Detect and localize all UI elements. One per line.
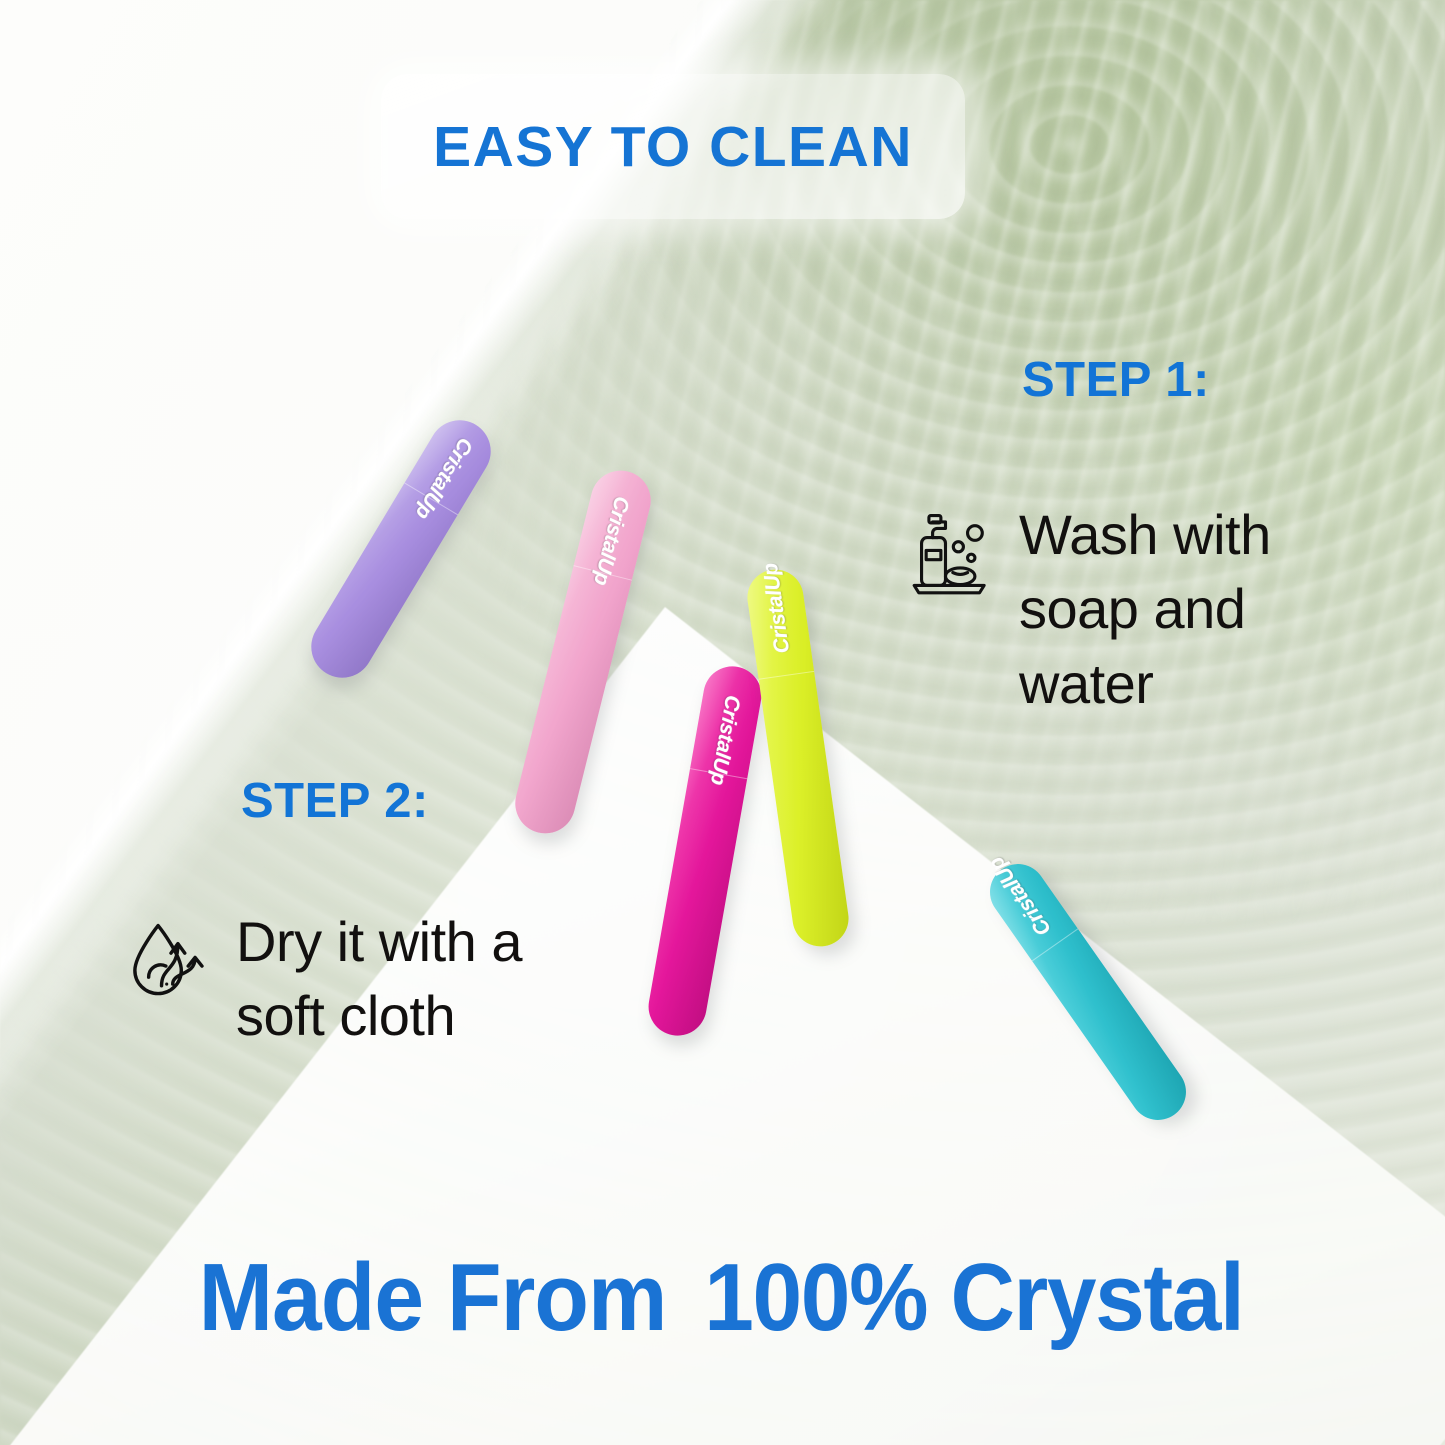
footer-headline-strong: 100% Crystal [704, 1243, 1243, 1353]
step-2-heading: STEP 2: [241, 773, 429, 829]
file-brand-logo: CristalUp [596, 494, 634, 558]
soap-dispenser-icon [905, 510, 997, 602]
file-brand-logo: CristalUp [764, 596, 796, 655]
file-brand-logo: CristalUp [711, 693, 745, 754]
step-1-heading: STEP 1: [1022, 352, 1210, 408]
footer-headline-lead: Made From [199, 1243, 667, 1353]
file-brand-logo: CristalUp [1005, 880, 1057, 940]
header-badge-label: EASY TO CLEAN [433, 114, 913, 180]
footer-headline: Made From 100% Crystal [0, 1243, 1445, 1353]
infographic-canvas: EASY TO CLEAN CristalUp CristalUp Crista… [0, 0, 1445, 1445]
header-badge: EASY TO CLEAN [381, 74, 965, 219]
step-2-block: Dry it with a soft cloth [128, 905, 608, 1054]
step-1-block: Wash with soap and water [905, 498, 1375, 721]
water-drop-evaporation-icon [128, 917, 214, 1003]
file-brand-logo: CristalUp [425, 433, 478, 499]
file-band-line [759, 671, 815, 680]
step-2-body-text: Dry it with a soft cloth [236, 905, 608, 1054]
step-1-body-text: Wash with soap and water [1019, 498, 1375, 721]
